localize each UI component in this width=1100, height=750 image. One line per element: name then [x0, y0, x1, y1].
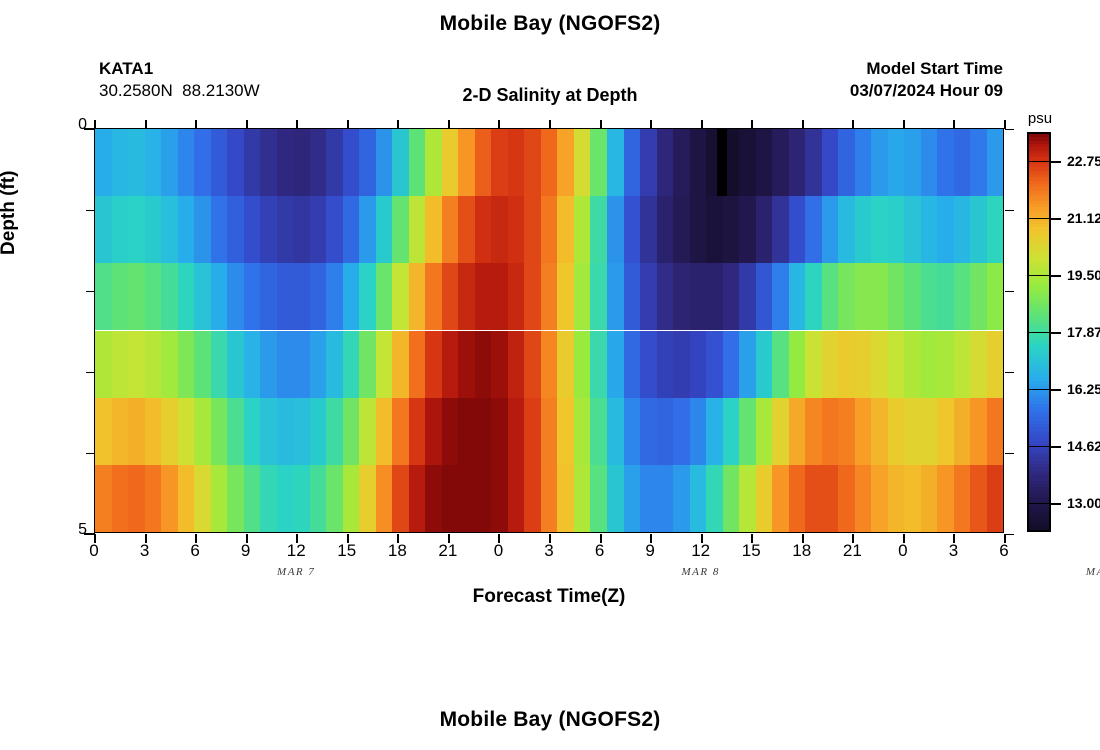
- heatmap-cell: [624, 196, 641, 263]
- heatmap-cell: [95, 129, 112, 196]
- heatmap-cell: [888, 263, 905, 330]
- heatmap-cell: [145, 263, 162, 330]
- x-axis-tick-top: [852, 120, 854, 129]
- heatmap-row: [95, 129, 1003, 196]
- heatmap-cell: [937, 196, 954, 263]
- heatmap-cell: [673, 465, 690, 532]
- heatmap-cell: [112, 129, 129, 196]
- heatmap-cell: [624, 263, 641, 330]
- heatmap-row: [95, 331, 1003, 398]
- heatmap-cell: [310, 196, 327, 263]
- heatmap-cell: [227, 129, 244, 196]
- heatmap-cell: [442, 196, 459, 263]
- heatmap-cell: [557, 465, 574, 532]
- heatmap-cell: [937, 263, 954, 330]
- heatmap-cell: [937, 465, 954, 532]
- heatmap-cell: [921, 398, 938, 465]
- heatmap-cell: [458, 465, 475, 532]
- heatmap-cell: [690, 398, 707, 465]
- heatmap-cell: [805, 465, 822, 532]
- colorbar-segment: [1029, 531, 1049, 532]
- heatmap-cell: [112, 465, 129, 532]
- heatmap-cell: [244, 263, 261, 330]
- heatmap-cell: [590, 196, 607, 263]
- heatmap-plot-area: [94, 128, 1004, 533]
- heatmap-cell: [756, 196, 773, 263]
- heatmap-cell: [739, 263, 756, 330]
- heatmap-cell: [706, 398, 723, 465]
- model-start-info: Model Start Time 03/07/2024 Hour 09: [700, 58, 1003, 102]
- y-axis-tick: [86, 210, 95, 211]
- heatmap-cell: [772, 263, 789, 330]
- heatmap-cell: [277, 331, 294, 398]
- x-axis-label: 6: [580, 541, 620, 561]
- heatmap-cell: [590, 398, 607, 465]
- heatmap-cell: [756, 129, 773, 196]
- model-start-label: Model Start Time: [700, 58, 1003, 80]
- heatmap-cell: [855, 196, 872, 263]
- x-axis-label: 9: [226, 541, 266, 561]
- heatmap-cell: [590, 129, 607, 196]
- heatmap-cell: [343, 465, 360, 532]
- heatmap-cell: [508, 196, 525, 263]
- heatmap-cell: [425, 398, 442, 465]
- heatmap-cell: [657, 263, 674, 330]
- heatmap-cell: [326, 129, 343, 196]
- y-axis-tick-right: [1005, 534, 1014, 535]
- heatmap-cell: [954, 465, 971, 532]
- heatmap-cell: [706, 331, 723, 398]
- heatmap-cell: [690, 331, 707, 398]
- heatmap-cell: [310, 331, 327, 398]
- heatmap-cell: [607, 398, 624, 465]
- heatmap-cell: [690, 465, 707, 532]
- heatmap-cell: [409, 331, 426, 398]
- heatmap-cell: [491, 129, 508, 196]
- heatmap-cell: [690, 129, 707, 196]
- heatmap-cell: [508, 129, 525, 196]
- heatmap-cell: [805, 398, 822, 465]
- y-axis-tick-right: [1005, 210, 1014, 211]
- heatmap-cell: [904, 129, 921, 196]
- heatmap-cell: [970, 129, 987, 196]
- heatmap-cell: [475, 129, 492, 196]
- x-axis-tick-top: [498, 120, 500, 129]
- heatmap-cell: [541, 465, 558, 532]
- colorbar-label: 22.750: [1067, 156, 1100, 166]
- heatmap-cell: [690, 263, 707, 330]
- heatmap-cell: [128, 465, 145, 532]
- x-axis-label: 18: [377, 541, 417, 561]
- heatmap-cell: [607, 196, 624, 263]
- y-axis-tick-right: [1005, 291, 1014, 292]
- colorbar-segment: [1029, 527, 1049, 531]
- heatmap-cell: [673, 398, 690, 465]
- heatmap-cell: [376, 331, 393, 398]
- x-axis-label: 15: [731, 541, 771, 561]
- heatmap-cell: [706, 263, 723, 330]
- heatmap-cell: [310, 129, 327, 196]
- heatmap-cell: [574, 398, 591, 465]
- x-axis-tick-top: [347, 120, 349, 129]
- heatmap-cell: [871, 398, 888, 465]
- x-axis-tick-top: [650, 120, 652, 129]
- heatmap-cell: [673, 196, 690, 263]
- x-axis-tick-top: [600, 120, 602, 129]
- heatmap-cell: [871, 196, 888, 263]
- heatmap-cell: [673, 263, 690, 330]
- heatmap-cell: [723, 465, 740, 532]
- chart-page: Mobile Bay (NGOFS2) KATA1 30.2580N 88.21…: [0, 0, 1100, 750]
- heatmap-row: [95, 263, 1003, 330]
- heatmap-cell: [723, 331, 740, 398]
- heatmap-cell: [211, 465, 228, 532]
- heatmap-cell: [458, 196, 475, 263]
- heatmap-cell: [178, 398, 195, 465]
- heatmap-cell: [260, 129, 277, 196]
- heatmap-cell: [475, 196, 492, 263]
- colorbar-tick: [1051, 161, 1061, 163]
- heatmap-cell: [194, 129, 211, 196]
- x-axis-tick-top: [751, 120, 753, 129]
- heatmap-cell: [491, 196, 508, 263]
- heatmap-cell: [657, 398, 674, 465]
- heatmap-cell: [277, 196, 294, 263]
- heatmap-cell: [657, 331, 674, 398]
- heatmap-cell: [524, 129, 541, 196]
- heatmap-cell: [524, 398, 541, 465]
- heatmap-cell: [194, 465, 211, 532]
- heatmap-cell: [326, 398, 343, 465]
- heatmap-cell: [112, 196, 129, 263]
- x-axis-label: 21: [832, 541, 872, 561]
- heatmap-cell: [987, 196, 1003, 263]
- y-axis-tick-right: [1005, 129, 1014, 130]
- page-title-top: Mobile Bay (NGOFS2): [0, 12, 1100, 36]
- heatmap-row: [95, 398, 1003, 465]
- x-axis-label: 21: [428, 541, 468, 561]
- heatmap-cell: [475, 263, 492, 330]
- heatmap-cell: [343, 129, 360, 196]
- heatmap-cell: [970, 263, 987, 330]
- heatmap-cell: [838, 331, 855, 398]
- heatmap-cell: [871, 331, 888, 398]
- heatmap-cell: [640, 263, 657, 330]
- heatmap-cell: [359, 263, 376, 330]
- heatmap-cell: [343, 196, 360, 263]
- colorbar-tick: [1051, 275, 1061, 277]
- heatmap-cell: [904, 465, 921, 532]
- heatmap-cell: [95, 196, 112, 263]
- heatmap-cell: [871, 129, 888, 196]
- heatmap-cell: [640, 398, 657, 465]
- heatmap-cell: [310, 398, 327, 465]
- x-axis-tick-top: [246, 120, 248, 129]
- heatmap-cell: [855, 398, 872, 465]
- heatmap-row: [95, 465, 1003, 532]
- heatmap-cell: [706, 465, 723, 532]
- heatmap-cell: [937, 331, 954, 398]
- heatmap-cell: [392, 196, 409, 263]
- y-axis-tick-right: [1005, 453, 1014, 454]
- heatmap-cell: [970, 196, 987, 263]
- heatmap-cell: [937, 129, 954, 196]
- heatmap-cell: [838, 398, 855, 465]
- heatmap-cell: [244, 129, 261, 196]
- x-axis-label: 0: [883, 541, 923, 561]
- heatmap-cell: [161, 331, 178, 398]
- heatmap-cell: [277, 129, 294, 196]
- heatmap-cell: [178, 196, 195, 263]
- heatmap-cell: [475, 331, 492, 398]
- colorbar-tick-inner: [1028, 503, 1050, 504]
- heatmap-cell: [227, 331, 244, 398]
- heatmap-cell: [524, 331, 541, 398]
- heatmap-cell: [260, 398, 277, 465]
- heatmap-cell: [855, 263, 872, 330]
- heatmap-cell: [772, 465, 789, 532]
- colorbar-label: 14.625: [1067, 441, 1100, 451]
- heatmap-cell: [673, 331, 690, 398]
- heatmap-cell: [359, 398, 376, 465]
- heatmap-cell: [409, 129, 426, 196]
- heatmap-cell: [211, 263, 228, 330]
- heatmap-cell: [293, 263, 310, 330]
- heatmap-cell: [673, 129, 690, 196]
- heatmap-cell: [491, 263, 508, 330]
- heatmap-cell: [458, 129, 475, 196]
- heatmap-cell: [574, 196, 591, 263]
- heatmap-cell: [112, 398, 129, 465]
- heatmap-cell: [178, 331, 195, 398]
- heatmap-cell: [359, 465, 376, 532]
- heatmap-cell: [756, 331, 773, 398]
- heatmap-cell: [326, 196, 343, 263]
- heatmap-cell: [789, 196, 806, 263]
- heatmap-cell: [260, 331, 277, 398]
- heatmap-cell: [557, 331, 574, 398]
- heatmap-cell: [491, 331, 508, 398]
- heatmap-cell: [970, 331, 987, 398]
- heatmap-cell: [392, 331, 409, 398]
- heatmap-cells: [95, 129, 1003, 532]
- x-axis-day-label: MAR 9: [1065, 566, 1100, 578]
- x-axis-label: 3: [125, 541, 165, 561]
- heatmap-cell: [987, 129, 1003, 196]
- x-axis-day-label: MAR 7: [256, 566, 336, 578]
- heatmap-cell: [805, 263, 822, 330]
- heatmap-cell: [822, 196, 839, 263]
- heatmap-cell: [211, 331, 228, 398]
- heatmap-cell: [557, 398, 574, 465]
- model-start-value: 03/07/2024 Hour 09: [700, 80, 1003, 102]
- heatmap-cell: [607, 331, 624, 398]
- heatmap-cell: [888, 331, 905, 398]
- missing-data-marker: [717, 129, 727, 196]
- heatmap-cell: [508, 263, 525, 330]
- colorbar-tick-inner: [1028, 275, 1050, 276]
- heatmap-cell: [954, 331, 971, 398]
- heatmap-cell: [508, 398, 525, 465]
- x-axis-tick-top: [549, 120, 551, 129]
- heatmap-cell: [425, 263, 442, 330]
- heatmap-cell: [277, 465, 294, 532]
- heatmap-cell: [574, 465, 591, 532]
- heatmap-cell: [657, 196, 674, 263]
- heatmap-cell: [723, 398, 740, 465]
- heatmap-cell: [987, 263, 1003, 330]
- heatmap-cell: [690, 196, 707, 263]
- heatmap-cell: [442, 263, 459, 330]
- heatmap-cell: [954, 129, 971, 196]
- heatmap-cell: [805, 196, 822, 263]
- heatmap-cell: [194, 263, 211, 330]
- heatmap-cell: [888, 398, 905, 465]
- heatmap-cell: [640, 331, 657, 398]
- heatmap-cell: [590, 465, 607, 532]
- heatmap-cell: [409, 398, 426, 465]
- heatmap-cell: [624, 331, 641, 398]
- x-axis-label: 0: [74, 541, 114, 561]
- colorbar-label: 16.250: [1067, 384, 1100, 394]
- heatmap-cell: [921, 331, 938, 398]
- heatmap-cell: [756, 465, 773, 532]
- heatmap-cell: [359, 129, 376, 196]
- x-axis-label: 3: [933, 541, 973, 561]
- heatmap-cell: [789, 129, 806, 196]
- heatmap-cell: [293, 129, 310, 196]
- heatmap-cell: [128, 398, 145, 465]
- heatmap-cell: [855, 465, 872, 532]
- x-axis-tick-top: [802, 120, 804, 129]
- heatmap-cell: [805, 331, 822, 398]
- heatmap-cell: [178, 129, 195, 196]
- heatmap-cell: [541, 263, 558, 330]
- heatmap-cell: [244, 331, 261, 398]
- heatmap-cell: [904, 196, 921, 263]
- heatmap-cell: [772, 129, 789, 196]
- heatmap-cell: [739, 465, 756, 532]
- heatmap-cell: [145, 129, 162, 196]
- y-axis-tick: [86, 291, 95, 292]
- heatmap-cell: [211, 196, 228, 263]
- heatmap-cell: [954, 398, 971, 465]
- heatmap-cell: [772, 331, 789, 398]
- heatmap-cell: [954, 263, 971, 330]
- heatmap-cell: [376, 398, 393, 465]
- heatmap-cell: [359, 331, 376, 398]
- heatmap-cell: [145, 331, 162, 398]
- heatmap-cell: [987, 465, 1003, 532]
- heatmap-cell: [392, 263, 409, 330]
- y-axis-tick-right: [1005, 372, 1014, 373]
- y-axis-label: 0: [47, 120, 87, 130]
- heatmap-cell: [524, 465, 541, 532]
- heatmap-cell: [789, 263, 806, 330]
- heatmap-cell: [970, 398, 987, 465]
- heatmap-cell: [607, 129, 624, 196]
- heatmap-cell: [376, 465, 393, 532]
- heatmap-cell: [772, 196, 789, 263]
- heatmap-cell: [739, 196, 756, 263]
- heatmap-cell: [194, 196, 211, 263]
- heatmap-cell: [260, 196, 277, 263]
- x-axis-title: Forecast Time(Z): [94, 586, 1004, 608]
- heatmap-cell: [326, 263, 343, 330]
- heatmap-cell: [524, 196, 541, 263]
- x-axis-label: 15: [327, 541, 367, 561]
- heatmap-cell: [260, 465, 277, 532]
- heatmap-cell: [888, 196, 905, 263]
- heatmap-cell: [359, 196, 376, 263]
- colorbar[interactable]: 22.75021.12519.50017.87516.25014.62513.0…: [1027, 132, 1051, 532]
- heatmap-cell: [888, 465, 905, 532]
- x-axis-label: 12: [276, 541, 316, 561]
- heatmap-cell: [95, 263, 112, 330]
- heatmap-cell: [491, 465, 508, 532]
- heatmap-cell: [128, 331, 145, 398]
- colorbar-tick: [1051, 446, 1061, 448]
- heatmap-cell: [227, 263, 244, 330]
- heatmap-cell: [508, 331, 525, 398]
- heatmap-cell: [293, 196, 310, 263]
- x-axis-label: 6: [984, 541, 1024, 561]
- heatmap-cell: [376, 263, 393, 330]
- colorbar-tick-inner: [1028, 161, 1050, 162]
- heatmap-cell: [739, 129, 756, 196]
- colorbar-tick-inner: [1028, 389, 1050, 390]
- heatmap-cell: [838, 196, 855, 263]
- heatmap-cell: [789, 398, 806, 465]
- colorbar-label: 19.500: [1067, 270, 1100, 280]
- heatmap-cell: [145, 398, 162, 465]
- heatmap-cell: [376, 196, 393, 263]
- y-axis-tick: [86, 372, 95, 373]
- colorbar-tick-inner: [1028, 332, 1050, 333]
- colorbar-units: psu: [1019, 110, 1061, 127]
- heatmap-cell: [145, 196, 162, 263]
- heatmap-cell: [921, 196, 938, 263]
- heatmap-cell: [921, 465, 938, 532]
- x-axis-label: 3: [529, 541, 569, 561]
- heatmap-cell: [95, 331, 112, 398]
- heatmap-cell: [508, 465, 525, 532]
- heatmap-cell: [161, 398, 178, 465]
- x-axis-label: 12: [681, 541, 721, 561]
- heatmap-cell: [95, 398, 112, 465]
- heatmap-cell: [624, 129, 641, 196]
- y-axis-tick: [86, 453, 95, 454]
- x-axis-tick-top: [195, 120, 197, 129]
- heatmap-cell: [475, 398, 492, 465]
- heatmap-cell: [723, 196, 740, 263]
- heatmap-cell: [409, 263, 426, 330]
- heatmap-cell: [178, 263, 195, 330]
- heatmap-cell: [161, 465, 178, 532]
- y-axis-title: Depth (ft): [0, 171, 20, 255]
- heatmap-cell: [557, 129, 574, 196]
- heatmap-cell: [227, 196, 244, 263]
- heatmap-cell: [607, 263, 624, 330]
- heatmap-cell: [277, 398, 294, 465]
- heatmap-cell: [937, 398, 954, 465]
- heatmap-cell: [277, 263, 294, 330]
- heatmap-cell: [822, 263, 839, 330]
- colorbar-label: 13.000: [1067, 498, 1100, 508]
- heatmap-cell: [987, 331, 1003, 398]
- heatmap-cell: [541, 398, 558, 465]
- heatmap-cell: [475, 465, 492, 532]
